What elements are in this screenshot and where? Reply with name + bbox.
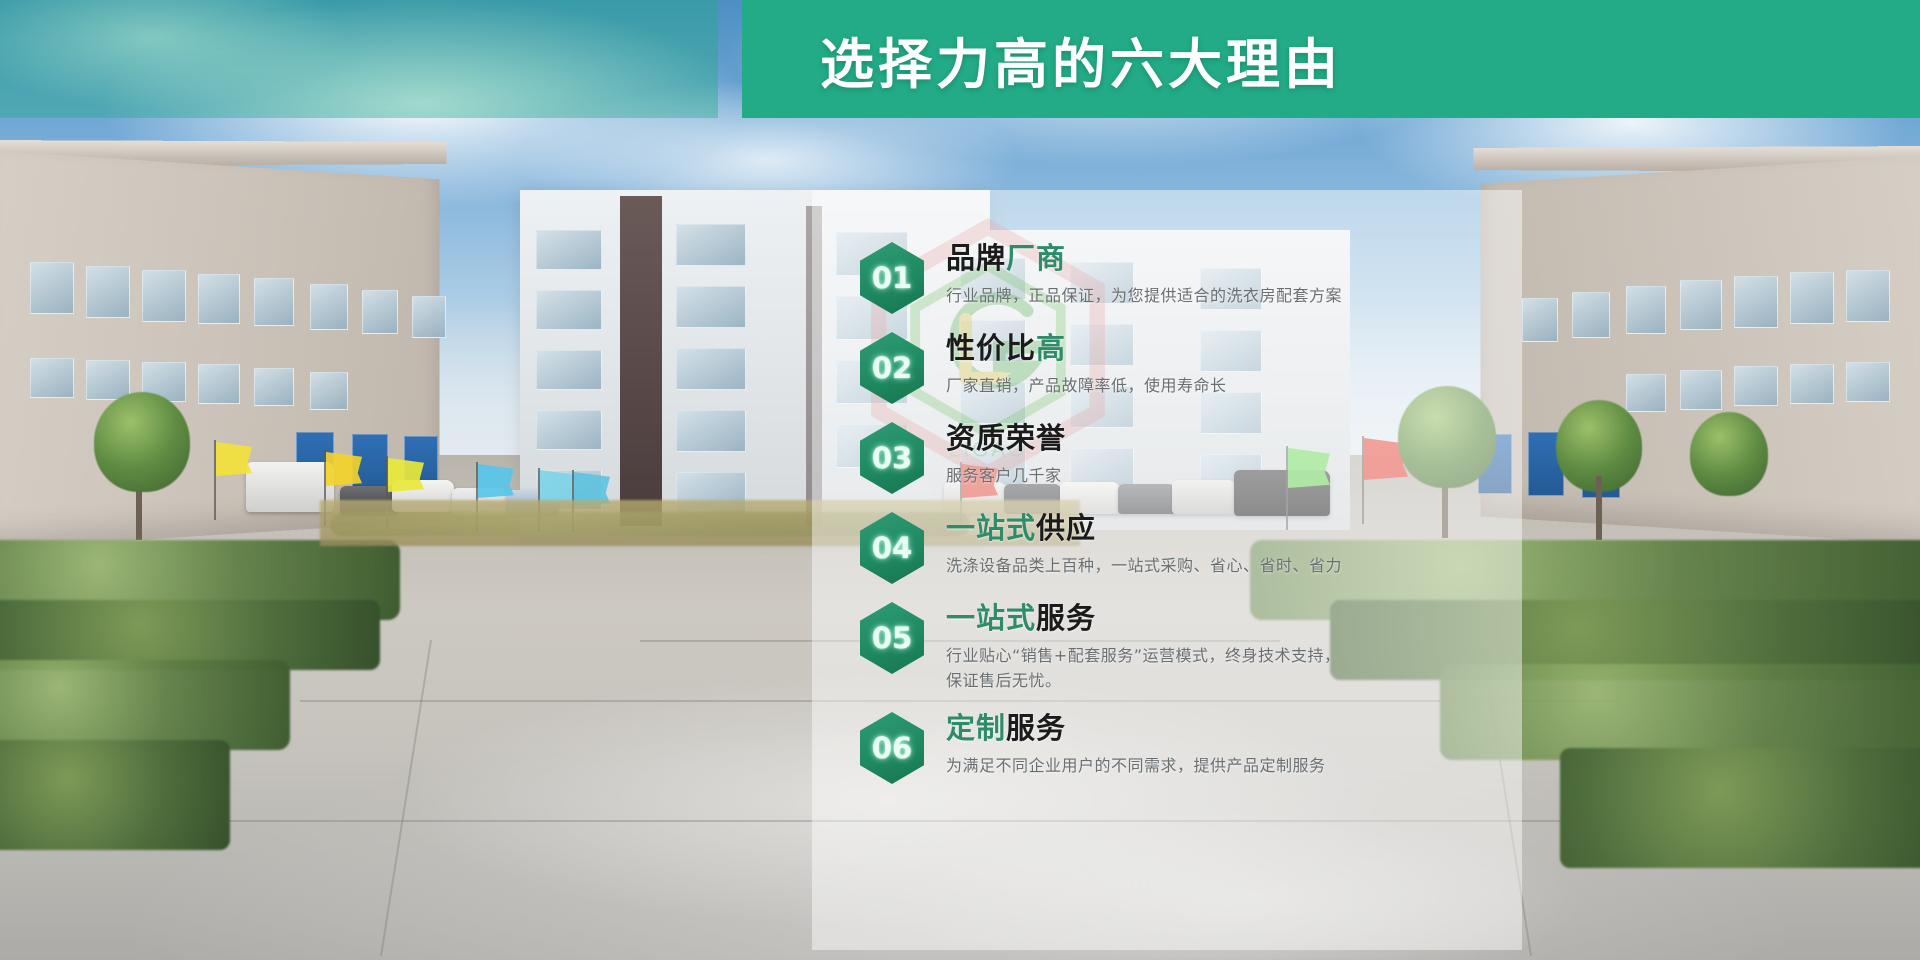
feature-number: 04	[860, 512, 924, 584]
feature-title-highlight: 一站式	[946, 601, 1036, 635]
feature-item-03[interactable]: 03 资质荣誉 服务客户几千家	[860, 420, 1500, 494]
window	[1626, 286, 1666, 334]
feature-text-01: 品牌厂商 行业品牌，正品保证，为您提供适合的洗衣房配套方案	[946, 240, 1342, 309]
window	[1846, 270, 1890, 322]
features-list: 01 品牌厂商 行业品牌，正品保证，为您提供适合的洗衣房配套方案 02 性价比高…	[860, 240, 1500, 800]
window	[536, 230, 602, 270]
feature-text-05: 一站式服务 行业贴心“销售+配套服务”运营模式，终身技术支持，保证售后无忧。	[946, 600, 1341, 694]
hedge-row	[0, 660, 290, 750]
feature-desc-line1: 洗涤设备品类上百种，一站式采购、省心、省时、省力	[946, 556, 1342, 575]
window	[310, 372, 348, 410]
window	[254, 368, 294, 406]
feature-title-highlight: 厂商	[1006, 241, 1066, 275]
feature-number: 06	[860, 712, 924, 784]
hexagon-badge-05: 05	[860, 602, 924, 674]
feature-description: 行业品牌，正品保证，为您提供适合的洗衣房配套方案	[946, 284, 1342, 309]
window	[1680, 280, 1722, 330]
feature-title-plain: 性价比	[946, 331, 1036, 365]
feature-description: 服务客户几千家	[946, 464, 1066, 489]
feature-text-03: 资质荣誉 服务客户几千家	[946, 420, 1066, 489]
window	[1626, 374, 1666, 412]
feature-title-plain: 品牌	[946, 241, 1006, 275]
page-title: 选择力高的六大理由	[820, 0, 1342, 118]
hexagon-badge-03: 03	[860, 422, 924, 494]
hedge-row	[0, 740, 230, 850]
feature-title-plain: 服务	[1036, 601, 1096, 635]
window	[1790, 272, 1834, 324]
feature-title: 资质荣誉	[946, 422, 1066, 455]
building-stripe	[620, 196, 662, 526]
feature-title-plain: 资质荣誉	[946, 421, 1066, 455]
window	[1734, 366, 1778, 406]
feature-title: 品牌厂商	[946, 242, 1342, 275]
feature-item-02[interactable]: 02 性价比高 厂家直销，产品故障率低，使用寿命长	[860, 330, 1500, 404]
window	[198, 274, 240, 324]
window	[1846, 362, 1890, 402]
window	[536, 410, 602, 450]
feature-title: 定制服务	[946, 712, 1326, 745]
hexagon-badge-04: 04	[860, 512, 924, 584]
feature-description: 洗涤设备品类上百种，一站式采购、省心、省时、省力	[946, 554, 1342, 579]
window	[676, 286, 746, 328]
feature-title-highlight: 高	[1036, 331, 1066, 365]
window	[676, 348, 746, 390]
feature-desc-line1: 行业品牌，正品保证，为您提供适合的洗衣房配套方案	[946, 286, 1342, 305]
feature-text-02: 性价比高 厂家直销，产品故障率低，使用寿命长	[946, 330, 1227, 399]
feature-number: 03	[860, 422, 924, 494]
window	[86, 360, 130, 400]
window	[536, 290, 602, 330]
window	[30, 262, 74, 314]
header-left-overlay	[0, 0, 718, 118]
feature-description: 为满足不同企业用户的不同需求，提供产品定制服务	[946, 754, 1326, 779]
window	[676, 224, 746, 266]
hexagon-badge-06: 06	[860, 712, 924, 784]
window	[536, 350, 602, 390]
feature-item-04[interactable]: 04 一站式供应 洗涤设备品类上百种，一站式采购、省心、省时、省力	[860, 510, 1500, 584]
window	[30, 358, 74, 398]
feature-desc-line1: 服务客户几千家	[946, 466, 1062, 485]
feature-title-highlight: 一站式	[946, 511, 1036, 545]
feature-title: 一站式供应	[946, 512, 1342, 545]
feature-desc-line1: 行业贴心“销售+配套服务”运营模式，终身技术支持，	[946, 646, 1341, 665]
feature-item-05[interactable]: 05 一站式服务 行业贴心“销售+配套服务”运营模式，终身技术支持，保证售后无忧…	[860, 600, 1500, 694]
feature-title-plain: 供应	[1036, 511, 1096, 545]
hexagon-badge-01: 01	[860, 242, 924, 314]
feature-desc-line1: 厂家直销，产品故障率低，使用寿命长	[946, 376, 1227, 395]
window	[198, 364, 240, 404]
window	[86, 266, 130, 318]
feature-item-01[interactable]: 01 品牌厂商 行业品牌，正品保证，为您提供适合的洗衣房配套方案	[860, 240, 1500, 314]
window	[310, 284, 348, 330]
window	[254, 278, 294, 326]
window	[1790, 364, 1834, 404]
poster-stage: 选择力高的六大理由 LIGAO 01 品牌厂商 行业品牌，正品保证，为您提供适合…	[0, 0, 1920, 960]
feature-desc-line2: 保证售后无忧。	[946, 669, 1341, 694]
header-banner: 选择力高的六大理由	[0, 0, 1920, 118]
window	[1680, 370, 1722, 410]
tree-trunk	[1596, 476, 1602, 540]
hexagon-badge-02: 02	[860, 332, 924, 404]
tree	[94, 392, 190, 492]
feature-description: 厂家直销，产品故障率低，使用寿命长	[946, 374, 1227, 399]
feature-description: 行业贴心“销售+配套服务”运营模式，终身技术支持，保证售后无忧。	[946, 644, 1341, 694]
window	[142, 270, 186, 322]
feature-title: 性价比高	[946, 332, 1227, 365]
feature-item-06[interactable]: 06 定制服务 为满足不同企业用户的不同需求，提供产品定制服务	[860, 710, 1500, 784]
window	[362, 290, 398, 334]
window	[1572, 292, 1610, 338]
tree	[1690, 412, 1768, 496]
hedge-row	[1560, 748, 1920, 868]
feature-number: 01	[860, 242, 924, 314]
feature-title-highlight: 定制	[946, 711, 1006, 745]
window	[412, 296, 446, 338]
feature-number: 02	[860, 332, 924, 404]
feature-number: 05	[860, 602, 924, 674]
feature-desc-line1: 为满足不同企业用户的不同需求，提供产品定制服务	[946, 756, 1326, 775]
feature-text-04: 一站式供应 洗涤设备品类上百种，一站式采购、省心、省时、省力	[946, 510, 1342, 579]
flag	[214, 440, 254, 520]
feature-title: 一站式服务	[946, 602, 1341, 635]
window	[1522, 298, 1558, 342]
feature-title-plain: 服务	[1006, 711, 1066, 745]
window	[1734, 276, 1778, 328]
window	[676, 410, 746, 452]
feature-text-06: 定制服务 为满足不同企业用户的不同需求，提供产品定制服务	[946, 710, 1326, 779]
